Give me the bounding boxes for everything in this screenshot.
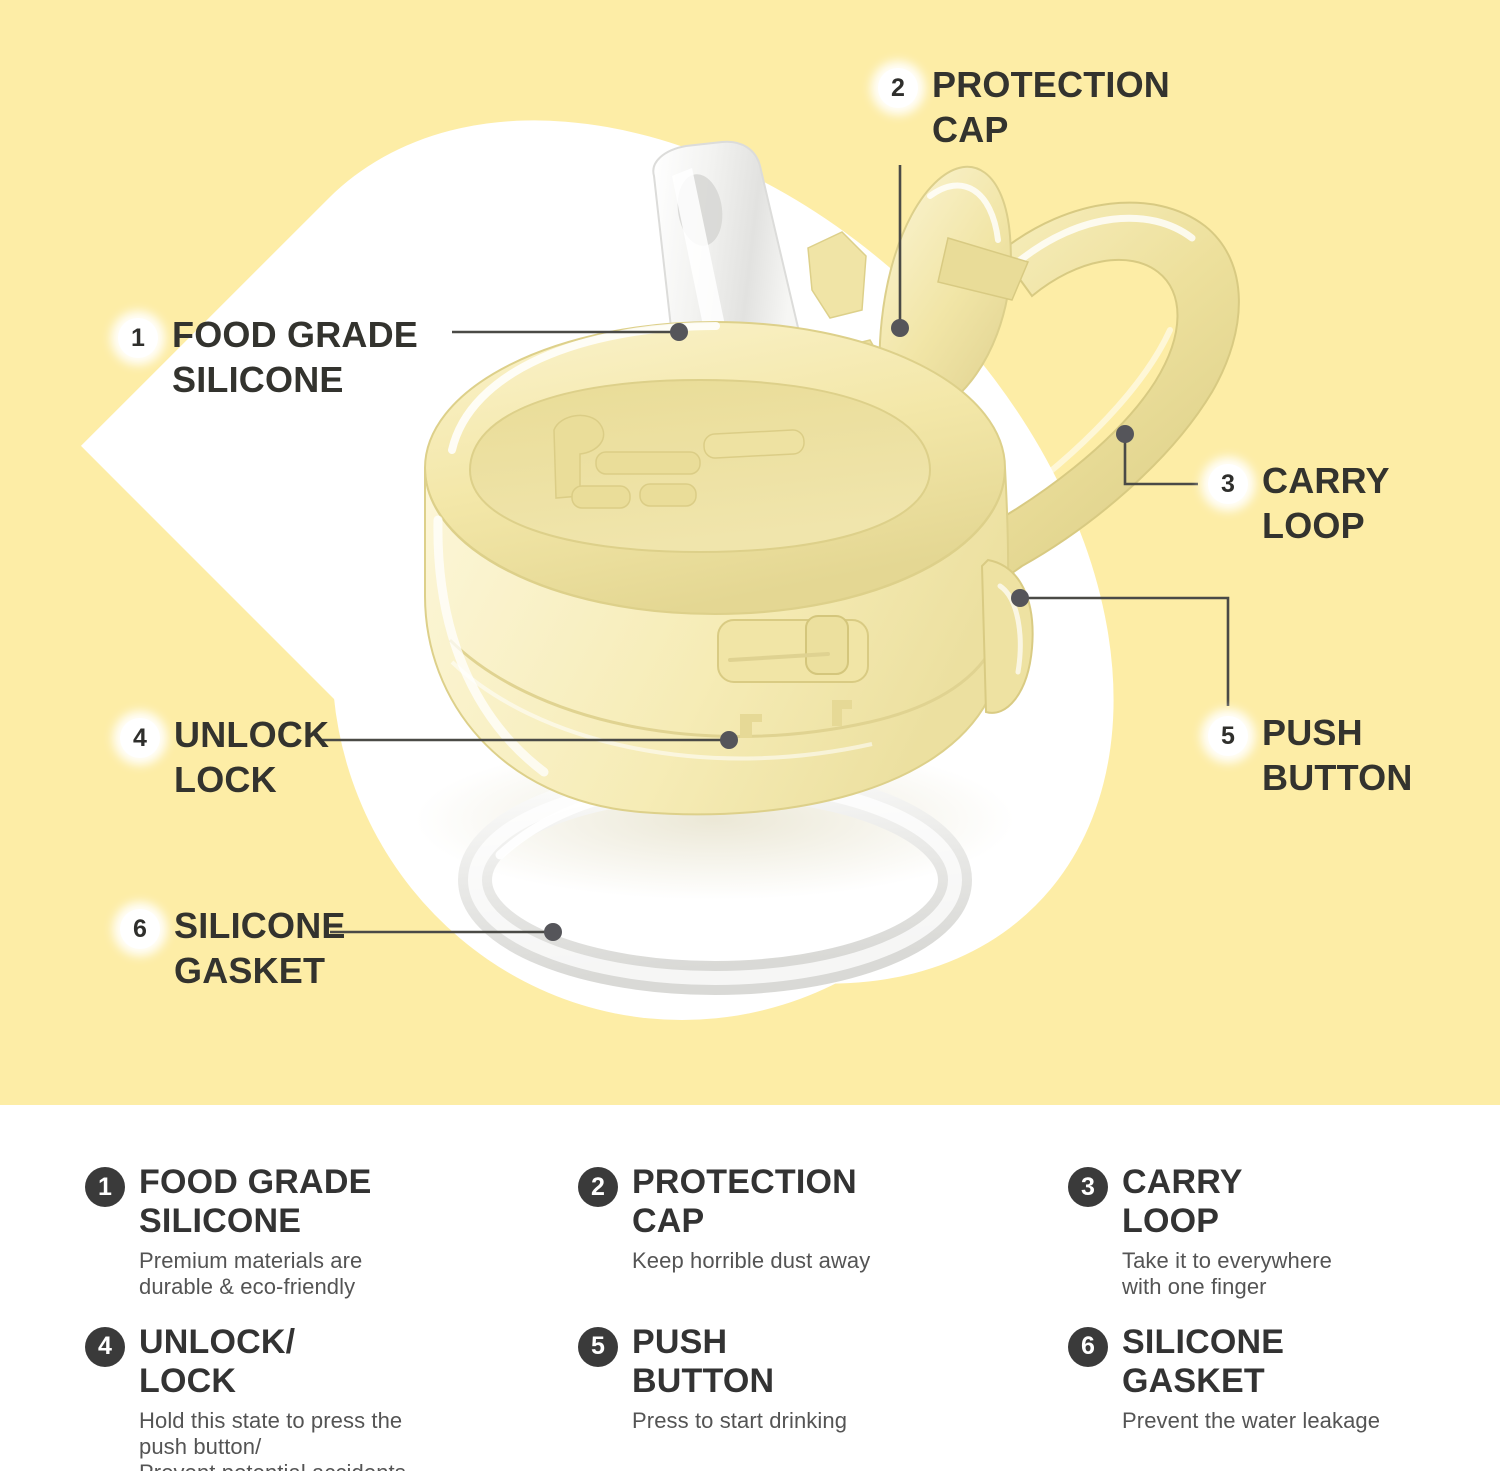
legend-item-unlock-lock: 4 UNLOCK/ LOCK Hold this state to press …	[85, 1323, 578, 1471]
callout-silicone-gasket: 6 SILICONE GASKET	[120, 903, 346, 994]
legend-desc-3: Take it to everywhere with one finger	[1122, 1248, 1332, 1301]
legend-desc-5: Press to start drinking	[632, 1408, 847, 1434]
callout-badge-4: 4	[120, 718, 160, 758]
legend-title-3: CARRY LOOP	[1122, 1163, 1332, 1242]
callout-push-button: 5 PUSH BUTTON	[1208, 710, 1413, 801]
legend-desc-1: Premium materials are durable & eco-frie…	[139, 1248, 371, 1301]
legend-item-food-grade-silicone: 1 FOOD GRADE SILICONE Premium materials …	[85, 1163, 578, 1301]
callout-unlock-lock: 4 UNLOCK LOCK	[120, 712, 329, 803]
legend-title-6: SILICONE GASKET	[1122, 1323, 1380, 1402]
callout-badge-2: 2	[878, 68, 918, 108]
legend-badge-1: 1	[85, 1167, 125, 1207]
callout-label-4: UNLOCK LOCK	[174, 712, 329, 803]
legend-desc-2: Keep horrible dust away	[632, 1248, 870, 1274]
callout-label-6: SILICONE GASKET	[174, 903, 346, 994]
legend-title-4: UNLOCK/ LOCK	[139, 1323, 406, 1402]
legend-badge-2: 2	[578, 1167, 618, 1207]
legend-badge-3: 3	[1068, 1167, 1108, 1207]
legend-title-5: PUSH BUTTON	[632, 1323, 847, 1402]
legend-item-carry-loop: 3 CARRY LOOP Take it to everywhere with …	[1068, 1163, 1455, 1301]
hero-section: 1 FOOD GRADE SILICONE 2 PROTECTION CAP 3…	[0, 0, 1500, 1105]
legend-desc-4: Hold this state to press the push button…	[139, 1408, 406, 1471]
callout-food-grade-silicone: 1 FOOD GRADE SILICONE	[118, 312, 418, 403]
legend-badge-4: 4	[85, 1327, 125, 1367]
legend-badge-6: 6	[1068, 1327, 1108, 1367]
callout-label-1: FOOD GRADE SILICONE	[172, 312, 418, 403]
push-button-part	[982, 560, 1033, 713]
callout-badge-6: 6	[120, 909, 160, 949]
legend-desc-6: Prevent the water leakage	[1122, 1408, 1380, 1434]
callout-protection-cap: 2 PROTECTION CAP	[878, 62, 1170, 153]
legend-item-protection-cap: 2 PROTECTION CAP Keep horrible dust away	[578, 1163, 1068, 1301]
lid-top-disc	[425, 322, 1005, 614]
legend-title-2: PROTECTION CAP	[632, 1163, 870, 1242]
legend-title-1: FOOD GRADE SILICONE	[139, 1163, 371, 1242]
callout-label-5: PUSH BUTTON	[1262, 710, 1413, 801]
legend-item-push-button: 5 PUSH BUTTON Press to start drinking	[578, 1323, 1068, 1471]
callout-carry-loop: 3 CARRY LOOP	[1208, 458, 1390, 549]
legend-badge-5: 5	[578, 1327, 618, 1367]
legend-grid: 1 FOOD GRADE SILICONE Premium materials …	[85, 1163, 1455, 1471]
callout-badge-1: 1	[118, 318, 158, 358]
callout-badge-3: 3	[1208, 464, 1248, 504]
legend-item-silicone-gasket: 6 SILICONE GASKET Prevent the water leak…	[1068, 1323, 1455, 1471]
callout-badge-5: 5	[1208, 716, 1248, 756]
callout-label-2: PROTECTION CAP	[932, 62, 1170, 153]
callout-label-3: CARRY LOOP	[1262, 458, 1390, 549]
legend-section: 1 FOOD GRADE SILICONE Premium materials …	[0, 1105, 1500, 1471]
product-feature-infographic: 1 FOOD GRADE SILICONE 2 PROTECTION CAP 3…	[0, 0, 1500, 1471]
